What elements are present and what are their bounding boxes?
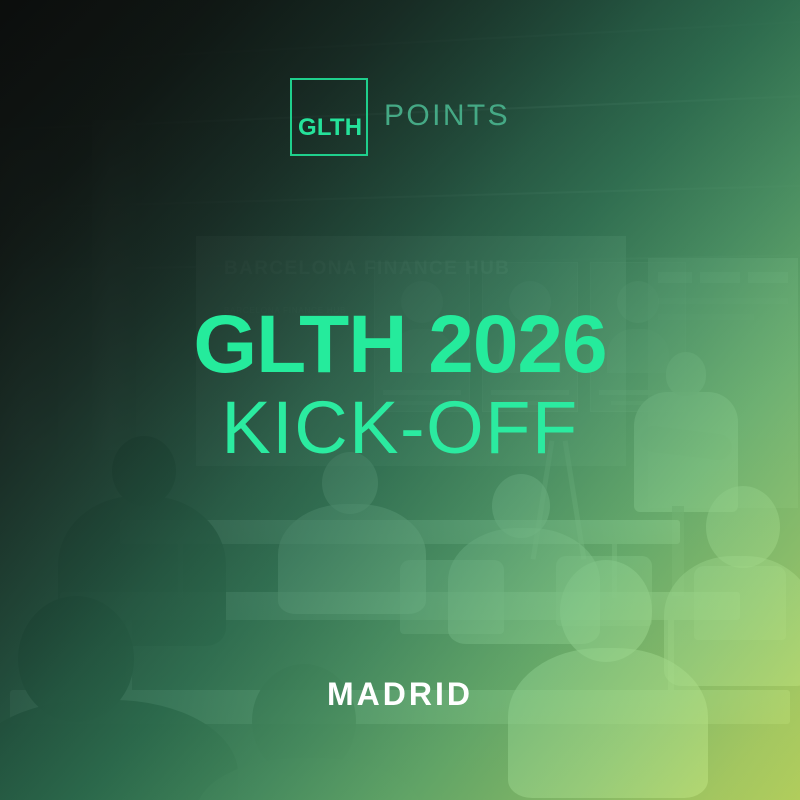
event-location: MADRID bbox=[0, 678, 800, 710]
logo-mark-label: GLTH bbox=[292, 116, 362, 154]
headline-line-1: GLTH 2026 bbox=[0, 306, 800, 385]
logo-square-icon: GLTH bbox=[290, 78, 368, 156]
headline-line-2: KICK-OFF bbox=[0, 391, 800, 465]
logo-word-label: POINTS bbox=[384, 101, 510, 133]
event-poster: BARCELONA FINANCE HUB BARCELONA FINANCE … bbox=[0, 0, 800, 800]
poster-content: GLTH POINTS GLTH 2026 KICK-OFF MADRID bbox=[0, 0, 800, 800]
brand-logo: GLTH POINTS bbox=[0, 78, 800, 156]
headline: GLTH 2026 KICK-OFF bbox=[0, 306, 800, 465]
